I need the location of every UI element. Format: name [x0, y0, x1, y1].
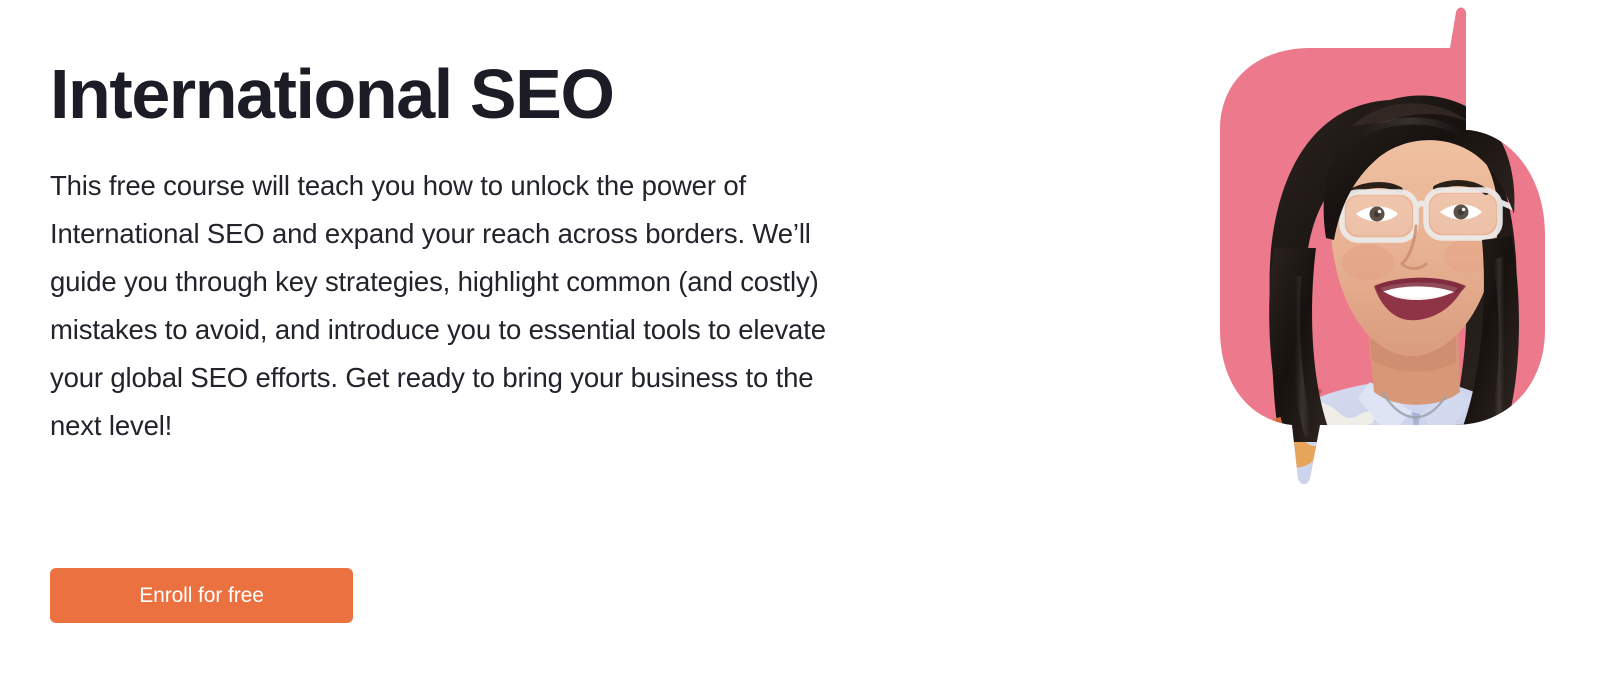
page-title: International SEO — [50, 52, 614, 136]
enroll-for-free-button[interactable]: Enroll for free — [50, 568, 353, 623]
course-hero-section: International SEO This free course will … — [0, 0, 1600, 677]
hero-copy-column: International SEO This free course will … — [50, 0, 910, 677]
course-description: This free course will teach you how to u… — [50, 162, 850, 450]
instructor-portrait-figure — [1120, 0, 1560, 520]
